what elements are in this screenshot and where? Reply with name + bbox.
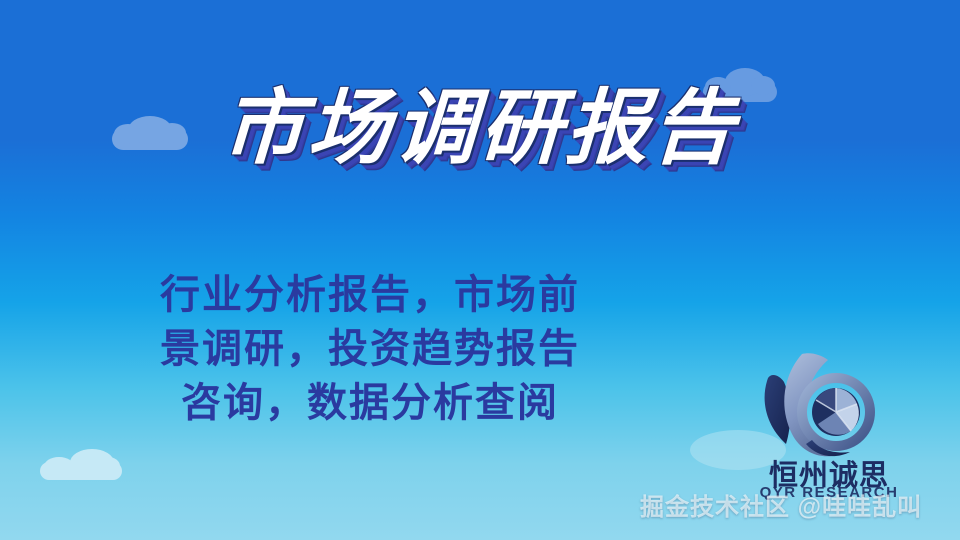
cloud-bottom-left-icon <box>40 462 122 480</box>
subtitle-line-2: 景调研，投资趋势报告 <box>60 322 680 376</box>
title-container: 市场调研报告 <box>0 86 960 172</box>
subtitle-line-1: 行业分析报告，市场前 <box>60 268 680 322</box>
poster-canvas: 市场调研报告 行业分析报告，市场前 景调研，投资趋势报告 咨询，数据分析查阅 <box>0 0 960 540</box>
butterfly-pie-chart-logo-icon <box>758 352 890 460</box>
subtitle-block: 行业分析报告，市场前 景调研，投资趋势报告 咨询，数据分析查阅 <box>60 268 680 430</box>
watermark-text: 掘金技术社区 @哇哇乱叫 <box>640 487 922 522</box>
subtitle-line-3: 咨询，数据分析查阅 <box>60 376 680 430</box>
page-title: 市场调研报告 <box>220 86 741 172</box>
